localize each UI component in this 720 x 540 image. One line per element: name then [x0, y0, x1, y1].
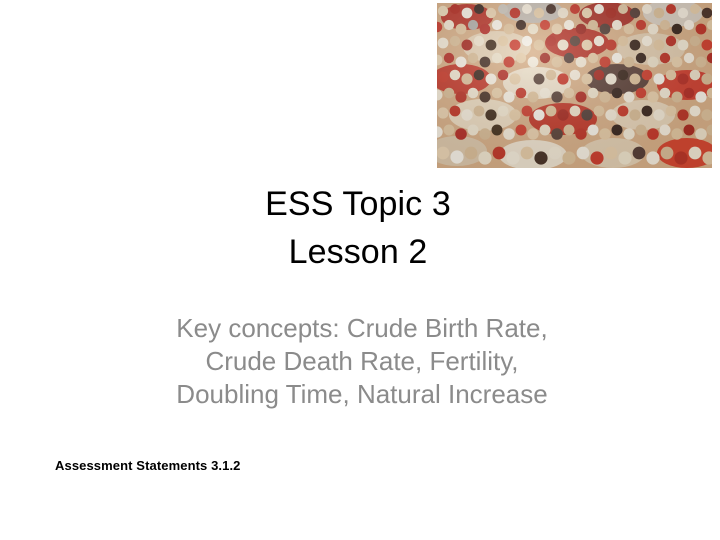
slide-canvas: ESS Topic 3 Lesson 2 Key concepts: Crude… [0, 0, 720, 540]
crowd-photo [437, 3, 712, 168]
title-line-2: Lesson 2 [48, 228, 668, 276]
assessment-statements-note: Assessment Statements 3.1.2 [55, 458, 241, 473]
slide-title: ESS Topic 3 Lesson 2 [48, 180, 668, 276]
slide-subtitle: Key concepts: Crude Birth Rate, Crude De… [52, 312, 672, 411]
subtitle-line-1: Key concepts: Crude Birth Rate, [52, 312, 672, 345]
subtitle-line-3: Doubling Time, Natural Increase [52, 378, 672, 411]
title-line-1: ESS Topic 3 [48, 180, 668, 228]
subtitle-line-2: Crude Death Rate, Fertility, [52, 345, 672, 378]
